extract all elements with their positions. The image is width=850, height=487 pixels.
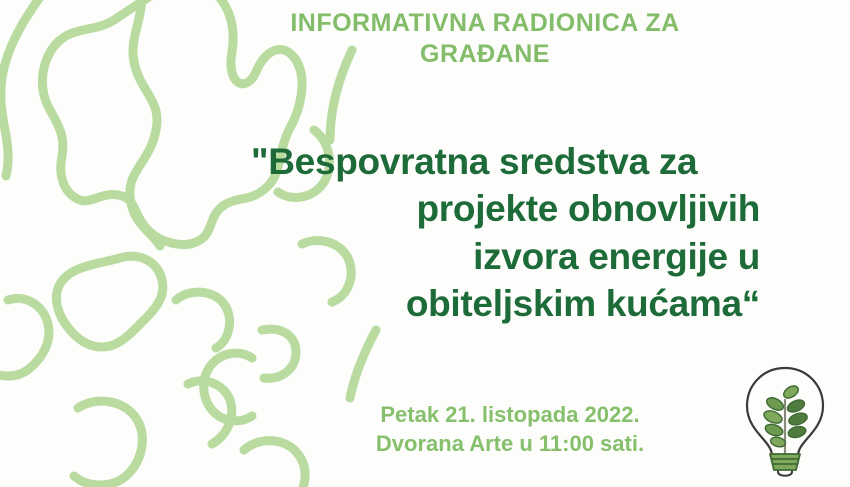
bulb-base bbox=[770, 454, 800, 470]
title-line-4: obiteljskim kućama“ bbox=[235, 280, 760, 327]
event-poster: INFORMATIVNA RADIONICA ZA GRAĐANE "Bespo… bbox=[0, 0, 850, 487]
lightbulb-plant-icon bbox=[733, 360, 837, 480]
header-line-2: GRAĐANE bbox=[250, 39, 720, 70]
title-line-1: "Bespovratna sredstva za bbox=[235, 138, 760, 185]
poster-footer: Petak 21. listopada 2022. Dvorana Arte u… bbox=[300, 400, 720, 459]
header-line-1: INFORMATIVNA RADIONICA ZA bbox=[250, 8, 720, 39]
footer-venue-line: Dvorana Arte u 11:00 sati. bbox=[300, 429, 720, 458]
poster-header: INFORMATIVNA RADIONICA ZA GRAĐANE bbox=[250, 8, 720, 69]
footer-date-line: Petak 21. listopada 2022. bbox=[300, 400, 720, 429]
title-line-3: izvora energije u bbox=[235, 233, 760, 280]
title-line-2: projekte obnovljivih bbox=[235, 185, 760, 232]
poster-title: "Bespovratna sredstva za projekte obnovl… bbox=[235, 138, 760, 327]
